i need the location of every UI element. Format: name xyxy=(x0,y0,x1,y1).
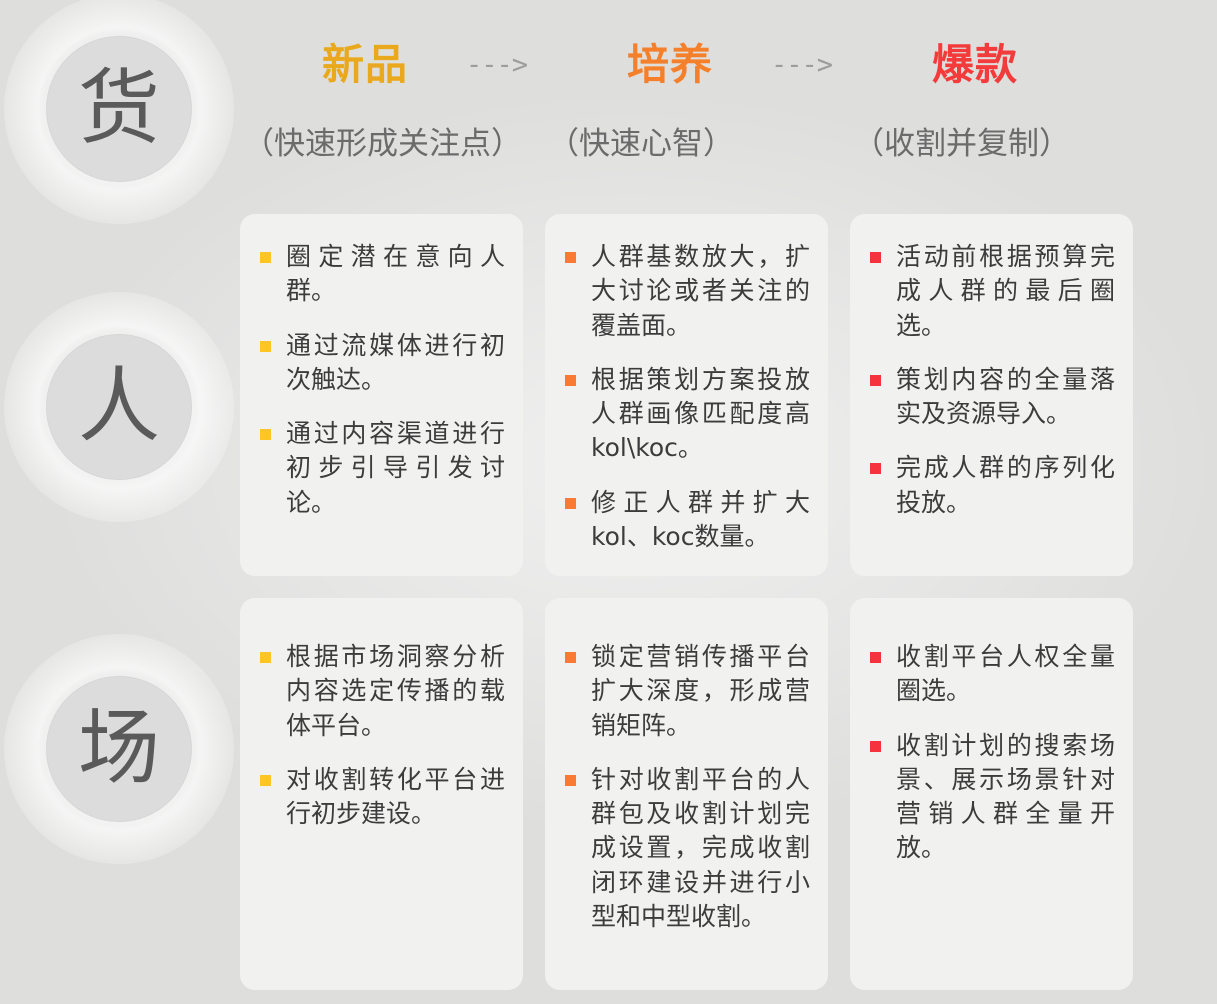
bullet-square-icon xyxy=(870,375,881,386)
bullet-item: 通过内容渠道进行初步引导引发讨论。 xyxy=(254,417,505,520)
bullet-item: 对收割转化平台进行初步建设。 xyxy=(254,763,505,832)
stage-subtitle-new: （快速形成关注点） xyxy=(240,126,522,163)
bullet-square-icon xyxy=(870,463,881,474)
card-people-hit[interactable]: 活动前根据预算完成人群的最后圈选。策划内容的全量落实及资源导入。完成人群的序列化… xyxy=(850,214,1133,576)
bullet-square-icon xyxy=(260,252,271,263)
place-circle-icon: 场 xyxy=(46,676,192,822)
bullet-item: 活动前根据预算完成人群的最后圈选。 xyxy=(864,240,1115,343)
stage-header: 新品 ---> 培养 ---> 爆款 （快速形成关注点） （快速心智） （收割并… xyxy=(240,0,1217,214)
bullet-list: 活动前根据预算完成人群的最后圈选。策划内容的全量落实及资源导入。完成人群的序列化… xyxy=(864,240,1115,520)
bullet-text: 根据策划方案投放人群画像匹配度高kol\koc。 xyxy=(591,365,810,463)
rail-item-goods: 货 xyxy=(30,20,208,198)
bullet-list: 收割平台人权全量圈选。收割计划的搜索场景、展示场景针对营销人群全量开放。 xyxy=(864,640,1115,866)
stage-subcell-1: （快速形成关注点） xyxy=(240,126,545,163)
stage-title-row: 新品 ---> 培养 ---> 爆款 xyxy=(240,34,1217,96)
bullet-item: 策划内容的全量落实及资源导入。 xyxy=(864,363,1115,432)
bullet-item: 通过流媒体进行初次触达。 xyxy=(254,329,505,398)
arrow-right-icon-1: ---> xyxy=(466,50,527,81)
bullet-text: 根据市场洞察分析内容选定传播的载体平台。 xyxy=(286,642,505,740)
rail-label-place: 场 xyxy=(78,708,160,790)
bullet-item: 完成人群的序列化投放。 xyxy=(864,451,1115,520)
bullet-text: 修正人群并扩大kol、koc数量。 xyxy=(591,488,810,551)
stage-subtitle-hit: （收割并复制） xyxy=(850,126,1070,163)
bullet-square-icon xyxy=(565,498,576,509)
goods-circle-icon: 货 xyxy=(46,36,192,182)
stage-title-new: 新品 xyxy=(240,44,408,86)
bullet-text: 策划内容的全量落实及资源导入。 xyxy=(896,365,1115,428)
bullet-text: 圈定潜在意向人群。 xyxy=(286,242,505,305)
bullet-item: 修正人群并扩大kol、koc数量。 xyxy=(559,486,810,555)
rail-label-goods: 货 xyxy=(78,68,160,150)
bullet-item: 收割计划的搜索场景、展示场景针对营销人群全量开放。 xyxy=(864,729,1115,866)
bullet-text: 收割平台人权全量圈选。 xyxy=(896,642,1115,705)
bullet-square-icon xyxy=(260,341,271,352)
bullet-text: 通过内容渠道进行初步引导引发讨论。 xyxy=(286,419,505,517)
bullet-list: 圈定潜在意向人群。通过流媒体进行初次触达。通过内容渠道进行初步引导引发讨论。 xyxy=(254,240,505,520)
stage-cell-1: 新品 ---> xyxy=(240,34,545,96)
stage-subcell-3: （收割并复制） xyxy=(850,126,1155,163)
bullet-list: 锁定营销传播平台扩大深度，形成营销矩阵。针对收割平台的人群包及收割计划完成设置，… xyxy=(559,640,810,934)
bullet-square-icon xyxy=(870,252,881,263)
stage-subtitle-nurture: （快速心智） xyxy=(545,126,734,163)
arrow-right-icon-2: ---> xyxy=(771,50,832,81)
stage-title-nurture: 培养 xyxy=(545,44,713,86)
bullet-square-icon xyxy=(565,375,576,386)
rail-item-people: 人 xyxy=(30,318,208,496)
bullet-item: 圈定潜在意向人群。 xyxy=(254,240,505,309)
card-people-nurture[interactable]: 人群基数放大，扩大讨论或者关注的覆盖面。根据策划方案投放人群画像匹配度高kol\… xyxy=(545,214,828,576)
bullet-square-icon xyxy=(565,652,576,663)
bullet-item: 锁定营销传播平台扩大深度，形成营销矩阵。 xyxy=(559,640,810,743)
bullet-square-icon xyxy=(565,252,576,263)
stage-cell-3: 爆款 xyxy=(850,34,1155,96)
bullet-text: 锁定营销传播平台扩大深度，形成营销矩阵。 xyxy=(591,642,810,740)
bullet-text: 对收割转化平台进行初步建设。 xyxy=(286,765,505,828)
card-row-place: 根据市场洞察分析内容选定传播的载体平台。对收割转化平台进行初步建设。 锁定营销传… xyxy=(240,598,1217,990)
bullet-square-icon xyxy=(565,775,576,786)
bullet-square-icon xyxy=(260,429,271,440)
bullet-item: 针对收割平台的人群包及收割计划完成设置，完成收割闭环建设并进行小型和中型收割。 xyxy=(559,763,810,934)
rail-item-place: 场 xyxy=(30,660,208,838)
stage-subcell-2: （快速心智） xyxy=(545,126,850,163)
bullet-list: 根据市场洞察分析内容选定传播的载体平台。对收割转化平台进行初步建设。 xyxy=(254,640,505,831)
left-rail: 货 人 场 xyxy=(0,0,240,990)
bullet-text: 收割计划的搜索场景、展示场景针对营销人群全量开放。 xyxy=(896,731,1115,863)
rail-label-people: 人 xyxy=(78,366,160,448)
card-people-new[interactable]: 圈定潜在意向人群。通过流媒体进行初次触达。通过内容渠道进行初步引导引发讨论。 xyxy=(240,214,523,576)
bullet-text: 活动前根据预算完成人群的最后圈选。 xyxy=(896,242,1115,340)
bullet-square-icon xyxy=(260,775,271,786)
bullet-square-icon xyxy=(870,652,881,663)
card-place-hit[interactable]: 收割平台人权全量圈选。收割计划的搜索场景、展示场景针对营销人群全量开放。 xyxy=(850,598,1133,990)
stage-title-hit: 爆款 xyxy=(850,44,1018,86)
bullet-item: 人群基数放大，扩大讨论或者关注的覆盖面。 xyxy=(559,240,810,343)
stage-subtitle-row: （快速形成关注点） （快速心智） （收割并复制） xyxy=(240,126,1217,163)
stage-cell-2: 培养 ---> xyxy=(545,34,850,96)
card-place-new[interactable]: 根据市场洞察分析内容选定传播的载体平台。对收割转化平台进行初步建设。 xyxy=(240,598,523,990)
row-gap xyxy=(240,568,1217,598)
bullet-list: 人群基数放大，扩大讨论或者关注的覆盖面。根据策划方案投放人群画像匹配度高kol\… xyxy=(559,240,810,554)
bullet-text: 完成人群的序列化投放。 xyxy=(896,453,1115,516)
bullet-square-icon xyxy=(870,741,881,752)
bullet-item: 根据策划方案投放人群画像匹配度高kol\koc。 xyxy=(559,363,810,466)
card-place-nurture[interactable]: 锁定营销传播平台扩大深度，形成营销矩阵。针对收割平台的人群包及收割计划完成设置，… xyxy=(545,598,828,990)
diagram-board: 货 人 场 新品 ---> 培养 ---> xyxy=(0,0,1217,1004)
bullet-item: 收割平台人权全量圈选。 xyxy=(864,640,1115,709)
bullet-item: 根据市场洞察分析内容选定传播的载体平台。 xyxy=(254,640,505,743)
people-circle-icon: 人 xyxy=(46,334,192,480)
bullet-text: 人群基数放大，扩大讨论或者关注的覆盖面。 xyxy=(591,242,810,340)
bullet-text: 针对收割平台的人群包及收割计划完成设置，完成收割闭环建设并进行小型和中型收割。 xyxy=(591,765,810,931)
card-row-people: 圈定潜在意向人群。通过流媒体进行初次触达。通过内容渠道进行初步引导引发讨论。 人… xyxy=(240,214,1217,568)
bullet-text: 通过流媒体进行初次触达。 xyxy=(286,331,505,394)
bullet-square-icon xyxy=(260,652,271,663)
